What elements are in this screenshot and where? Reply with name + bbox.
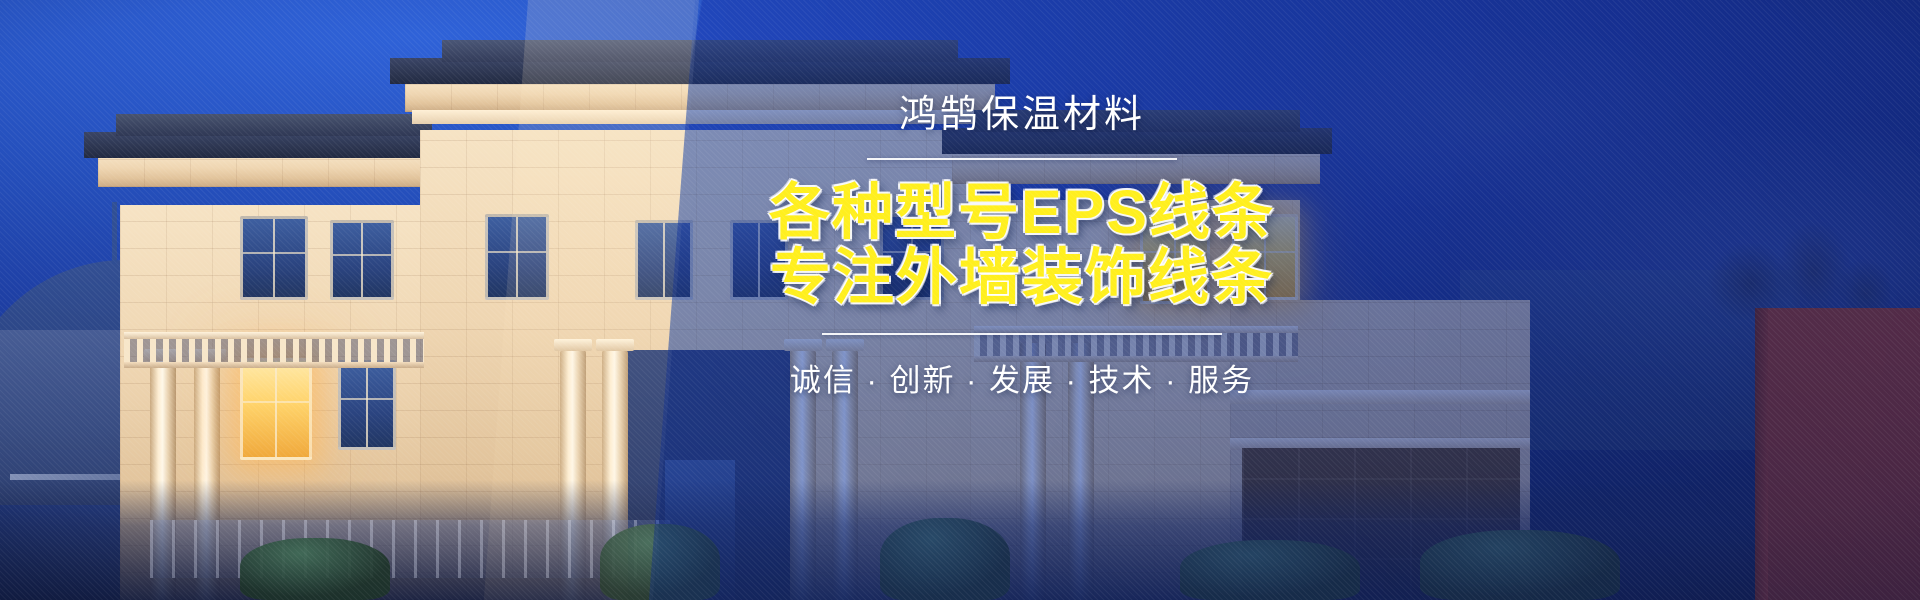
window	[240, 216, 308, 300]
left-wing-roof-cap	[116, 114, 432, 136]
window-lit	[240, 358, 312, 460]
balustrade	[124, 332, 424, 368]
promo-banner: 鸿鹄保温材料 各种型号EPS线条 专注外墙装饰线条 诚信 · 创新 · 发展 ·…	[0, 0, 1920, 600]
window	[338, 360, 396, 450]
headline-line-2: 专注外墙装饰线条	[712, 245, 1332, 310]
divider-top	[867, 158, 1177, 160]
banner-text-block: 鸿鹄保温材料 各种型号EPS线条 专注外墙装饰线条 诚信 · 创新 · 发展 ·…	[712, 96, 1332, 400]
headline: 各种型号EPS线条 专注外墙装饰线条	[712, 180, 1332, 311]
left-wing-cornice	[98, 155, 450, 187]
headline-line-1: 各种型号EPS线条	[712, 180, 1332, 245]
tagline: 诚信 · 创新 · 发展 · 技术 · 服务	[712, 355, 1332, 400]
shrub	[240, 538, 390, 600]
divider-bottom	[822, 333, 1222, 335]
brand-name: 鸿鹄保温材料	[712, 96, 1332, 134]
window	[330, 220, 394, 300]
